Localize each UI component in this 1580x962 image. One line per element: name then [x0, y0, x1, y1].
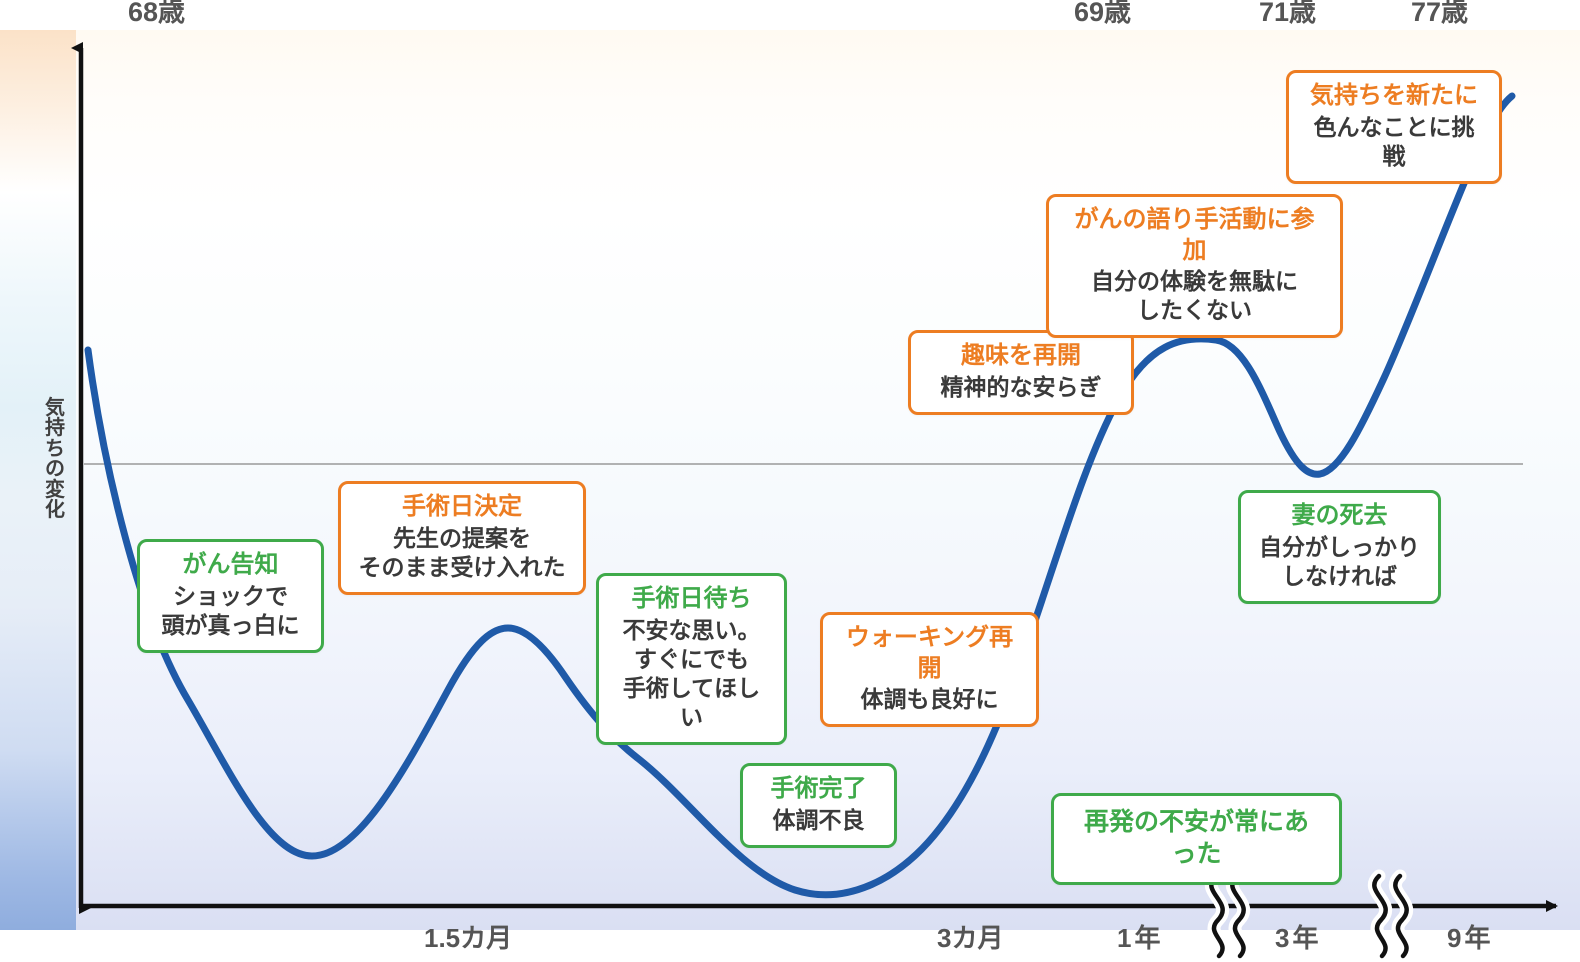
annotation-title: ウォーキング再開	[839, 623, 1020, 684]
annotation-subtitle: 自分の体験を無駄に したくない	[1065, 267, 1324, 325]
annotation-walking-resumed[interactable]: ウォーキング再開 体調も良好に	[820, 612, 1039, 727]
annotation-subtitle: 不安な思い。 すぐにでも 手術してほしい	[615, 616, 768, 732]
annotation-subtitle: ショックで 頭が真っ白に	[156, 582, 305, 640]
time-tick-1-year: 1年	[1117, 918, 1163, 955]
annotation-title: 手術日待ち	[615, 584, 768, 615]
age-tick-71: 71歳	[1259, 0, 1316, 29]
y-axis-label-char: 気	[38, 398, 72, 418]
annotation-fresh-start[interactable]: 気持ちを新たに 色んなことに挑戦	[1286, 70, 1502, 184]
journey-chart: 気 持 ち の 変 化 68歳 69歳 71歳 77歳 1.5カ月 3カ月 1年…	[0, 0, 1580, 962]
annotation-title: 再発の不安が常にあった	[1072, 806, 1321, 870]
annotation-title: がんの語り手活動に参加	[1065, 205, 1324, 266]
y-axis-label-char: の	[38, 459, 72, 479]
annotation-subtitle: 体調も良好に	[839, 685, 1020, 714]
time-tick-9-years: 9年	[1447, 918, 1493, 955]
y-axis-label-char: 変	[38, 480, 72, 500]
annotation-title: 手術完了	[759, 774, 878, 805]
y-axis-label-char: 持	[38, 418, 72, 438]
time-tick-1-5-months: 1.5カ月	[424, 918, 512, 955]
annotation-title: 趣味を再開	[927, 341, 1115, 372]
annotation-subtitle: 先生の提案を そのまま受け入れた	[357, 524, 567, 582]
annotation-subtitle: 体調不良	[759, 806, 878, 835]
time-tick-3-months: 3カ月	[937, 918, 1003, 955]
time-tick-3-years: 3年	[1275, 918, 1321, 955]
annotation-title: 手術日決定	[357, 492, 567, 523]
annotation-cancer-notification[interactable]: がん告知 ショックで 頭が真っ白に	[137, 539, 324, 653]
y-axis-label: 気 持 ち の 変 化	[38, 398, 72, 520]
annotation-title: 気持ちを新たに	[1305, 81, 1483, 112]
annotation-subtitle: 色んなことに挑戦	[1305, 113, 1483, 171]
annotation-title: 妻の死去	[1257, 501, 1422, 532]
age-tick-69: 69歳	[1074, 0, 1131, 29]
annotation-subtitle: 精神的な安らぎ	[927, 373, 1115, 402]
annotation-surgery-completed[interactable]: 手術完了 体調不良	[740, 763, 897, 848]
annotation-title: がん告知	[156, 550, 305, 581]
annotation-wife-passed-away[interactable]: 妻の死去 自分がしっかり しなければ	[1238, 490, 1441, 604]
annotation-cancer-storyteller[interactable]: がんの語り手活動に参加 自分の体験を無駄に したくない	[1046, 194, 1343, 338]
annotation-surgery-date-decided[interactable]: 手術日決定 先生の提案を そのまま受け入れた	[338, 481, 586, 595]
annotation-waiting-for-surgery[interactable]: 手術日待ち 不安な思い。 すぐにでも 手術してほしい	[596, 573, 787, 745]
age-tick-68: 68歳	[128, 0, 185, 29]
annotation-constant-recurrence-anxiety[interactable]: 再発の不安が常にあった	[1051, 793, 1342, 885]
age-tick-77: 77歳	[1411, 0, 1468, 29]
annotation-subtitle: 自分がしっかり しなければ	[1257, 533, 1422, 591]
y-axis-label-char: 化	[38, 500, 72, 520]
annotation-hobby-resumed[interactable]: 趣味を再開 精神的な安らぎ	[908, 330, 1134, 415]
y-axis-label-char: ち	[38, 439, 72, 459]
